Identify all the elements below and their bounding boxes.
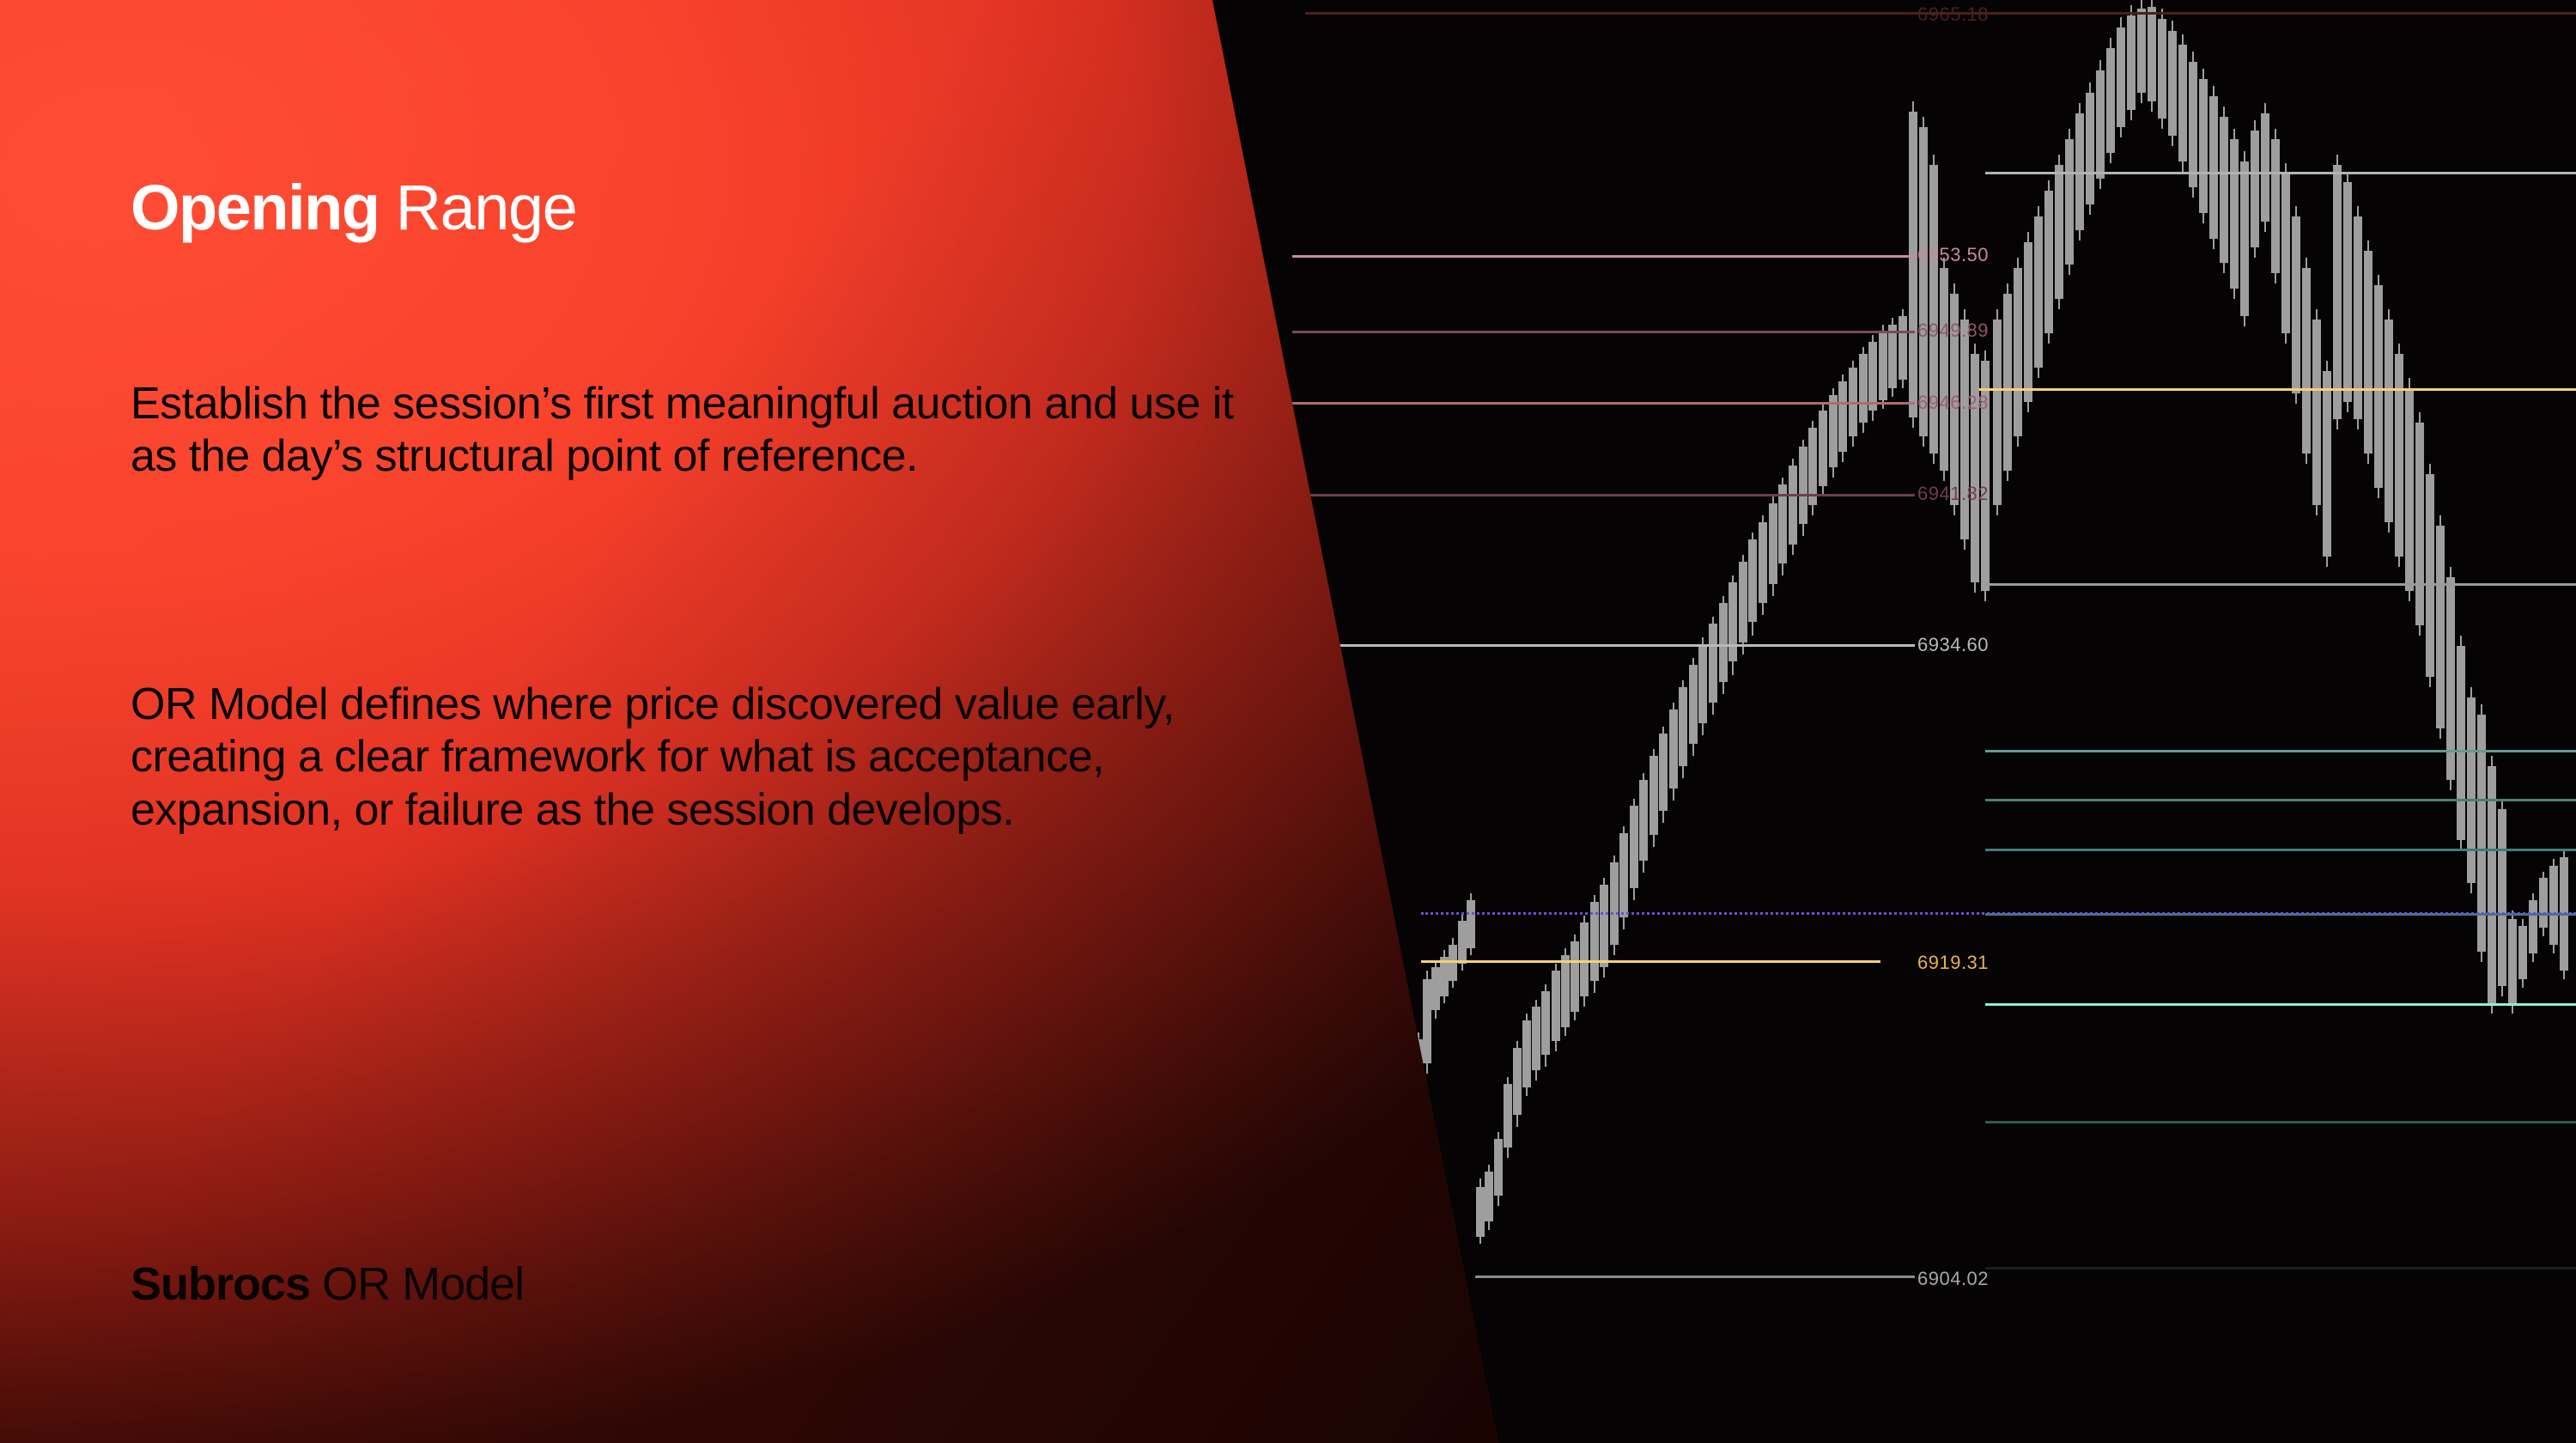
- candle: [2518, 919, 2527, 988]
- price-label: 6953.50: [1917, 244, 1989, 266]
- level-line-low-gray-left: [1475, 1276, 1915, 1278]
- candle: [2251, 120, 2259, 258]
- candle-body: [1719, 603, 1728, 682]
- candle: [2044, 180, 2053, 344]
- candle: [2539, 872, 2548, 936]
- candle: [2457, 636, 2465, 850]
- candle-body: [1494, 1139, 1503, 1196]
- candle-body: [1940, 268, 1948, 471]
- page-title-light: Range: [396, 172, 577, 243]
- candle-body: [1639, 780, 1648, 861]
- candle-body: [2209, 96, 2218, 239]
- level-line-or-low-mint: [1985, 1003, 2576, 1006]
- candle-body: [2137, 9, 2146, 93]
- candle-body: [2539, 878, 2548, 928]
- candle-body: [2251, 131, 2259, 247]
- candle: [1440, 950, 1449, 1003]
- candle-body: [2302, 268, 2311, 454]
- candle-body: [2168, 31, 2177, 136]
- candle-body: [2003, 294, 2012, 471]
- candle-body: [1971, 354, 1979, 582]
- candle-body: [1960, 320, 1969, 539]
- price-label: 6919.31: [1917, 952, 1989, 974]
- candle: [1888, 318, 1897, 397]
- candle: [1960, 309, 1969, 550]
- candle: [1838, 374, 1847, 462]
- candle: [1449, 938, 1457, 988]
- candle: [2405, 378, 2414, 601]
- candle: [2220, 107, 2228, 273]
- candle: [1940, 258, 1948, 481]
- candle-body: [2457, 646, 2465, 840]
- level-line-pivot-rose-1: [1292, 255, 1915, 258]
- candle-body: [1859, 354, 1868, 423]
- candle: [2003, 283, 2012, 481]
- candle: [1868, 335, 1877, 421]
- page-title: Opening Range: [131, 176, 576, 240]
- candle: [1639, 773, 1648, 873]
- candle: [1698, 637, 1707, 735]
- candle-body: [1909, 112, 1917, 417]
- candle: [1476, 1178, 1485, 1244]
- candle-body: [1485, 1172, 1493, 1221]
- candle-body: [2220, 117, 2228, 263]
- candle: [2261, 103, 2269, 232]
- candle-body: [2405, 388, 2414, 591]
- candle: [1993, 309, 2002, 515]
- candle: [1971, 344, 1979, 593]
- candle-body: [2467, 697, 2476, 883]
- candle: [1689, 658, 1698, 756]
- candle-body: [2333, 165, 2342, 419]
- candle: [2343, 172, 2352, 412]
- candle-body: [1698, 644, 1707, 723]
- candle-body: [1829, 395, 1838, 467]
- candle-body: [1789, 466, 1797, 545]
- candle: [2488, 756, 2496, 1014]
- candle-body: [2385, 320, 2393, 522]
- candle: [2364, 240, 2372, 464]
- candle-body: [2281, 174, 2290, 333]
- candle-body: [1709, 624, 1717, 703]
- candle: [1659, 727, 1668, 823]
- candle: [2158, 9, 2166, 129]
- level-line-or-high-yellow: [1979, 388, 2576, 391]
- level-line-vwap-band-3: [1985, 849, 2576, 851]
- candle-body: [1449, 945, 1457, 981]
- candle: [2508, 910, 2517, 1014]
- candle-body: [2106, 48, 2115, 153]
- candle: [1571, 935, 1579, 1020]
- candle: [1423, 971, 1431, 1074]
- candle: [2230, 129, 2239, 299]
- candle-body: [1504, 1084, 1512, 1148]
- candle: [2529, 893, 2537, 962]
- candle-body: [2436, 526, 2445, 728]
- candle: [1679, 680, 1687, 778]
- price-label: 6946.28: [1917, 392, 1989, 414]
- candle-body: [1669, 709, 1678, 788]
- candle: [2467, 687, 2476, 893]
- candle: [2374, 275, 2383, 498]
- candle: [2323, 361, 2331, 567]
- candle: [2395, 344, 2403, 567]
- price-label: 6949.89: [1917, 320, 1989, 342]
- candle-body: [2199, 79, 2208, 213]
- level-line-vwap-band-1: [1985, 750, 2576, 752]
- body-paragraph-1: Establish the session’s first meaningful…: [131, 378, 1238, 484]
- candle-body: [1610, 862, 1619, 945]
- candle-body: [2148, 7, 2156, 101]
- level-line-pivot-rose-4: [1292, 494, 1915, 496]
- candle-body: [1769, 503, 1777, 584]
- candle: [1739, 555, 1747, 655]
- candle: [1899, 309, 1907, 388]
- candle-body: [1600, 885, 1608, 967]
- slide-canvas: 6965.186953.506949.896946.286941.826934.…: [0, 0, 2576, 1443]
- level-line-structure-gray-3: [1985, 583, 2576, 586]
- candle-body: [2189, 62, 2197, 187]
- candle-body: [2230, 139, 2239, 289]
- candle: [1799, 440, 1807, 536]
- candle: [2178, 34, 2187, 172]
- candle: [2024, 232, 2032, 412]
- candle-body: [2508, 919, 2517, 1003]
- candle-body: [1458, 921, 1467, 964]
- candle: [2240, 151, 2249, 326]
- candle-body: [1580, 922, 1589, 996]
- candle-body: [2518, 926, 2527, 979]
- candle: [2065, 129, 2074, 275]
- candle: [1630, 799, 1638, 900]
- candle: [2271, 129, 2280, 283]
- level-line-structure-gray-1: [1985, 172, 2576, 174]
- level-line-lower-teal-dim: [1985, 1121, 2576, 1123]
- level-line-low-gray-right: [1985, 1267, 2576, 1269]
- brand-product: OR Model: [322, 1258, 524, 1310]
- page-title-bold: Opening: [131, 172, 380, 243]
- candle: [1649, 749, 1658, 847]
- price-label: 6934.60: [1917, 634, 1989, 656]
- candle: [1859, 347, 1868, 433]
- candle-body: [2343, 182, 2352, 402]
- candle-body: [1679, 687, 1687, 766]
- candle-body: [2529, 900, 2537, 953]
- price-label: 6965.18: [1917, 3, 1989, 26]
- candle: [2426, 464, 2434, 687]
- candle: [1709, 617, 1717, 715]
- candle-body: [2292, 216, 2300, 393]
- candle: [2292, 206, 2300, 404]
- candle-body: [2086, 93, 2094, 204]
- candle-body: [2323, 371, 2331, 557]
- candle-body: [1739, 562, 1747, 642]
- candle-body: [2055, 165, 2063, 299]
- candle: [2385, 309, 2393, 533]
- brand-name: Subrocs: [131, 1258, 310, 1310]
- level-line-session-dotted: [1421, 912, 2576, 915]
- candle: [1532, 1000, 1540, 1081]
- candle-body: [2240, 161, 2249, 316]
- candle: [1728, 575, 1737, 675]
- level-line-or-low-yellow: [1421, 960, 1880, 963]
- candle-body: [2158, 19, 2166, 119]
- candle: [2302, 258, 2311, 464]
- candle: [2199, 69, 2208, 223]
- brand-footer: Subrocs OR Model: [131, 1261, 524, 1307]
- level-line-pivot-rose-2: [1292, 331, 1915, 333]
- candle-body: [1619, 833, 1628, 917]
- candle-body: [2549, 866, 2558, 945]
- candle: [2549, 859, 2558, 953]
- candle-body: [2024, 242, 2032, 402]
- candle: [1759, 515, 1767, 615]
- candle: [2312, 309, 2321, 515]
- candle-body: [2395, 354, 2403, 557]
- candle: [1819, 404, 1827, 496]
- candle-body: [1467, 900, 1475, 948]
- candle: [1513, 1041, 1522, 1127]
- candle: [1610, 855, 1619, 955]
- candle-body: [1630, 806, 1638, 888]
- candle: [1748, 533, 1757, 636]
- candle-body: [2065, 139, 2074, 265]
- candle-body: [2374, 285, 2383, 488]
- candle-body: [1561, 955, 1570, 1027]
- candle-body: [1513, 1048, 1522, 1115]
- candle-body: [2096, 70, 2105, 179]
- candle-body: [1819, 411, 1827, 486]
- candle-body: [1689, 665, 1698, 744]
- candle: [1789, 459, 1797, 555]
- candle: [2477, 704, 2486, 962]
- candle-body: [1541, 991, 1550, 1055]
- candle-body: [1522, 1020, 1531, 1087]
- candle: [2281, 163, 2290, 344]
- candle-body: [2312, 320, 2321, 505]
- price-label: 6941.82: [1917, 483, 1989, 505]
- candle: [2106, 38, 2115, 163]
- candle: [1494, 1132, 1503, 1206]
- candle-body: [1649, 756, 1658, 835]
- price-label: 6904.02: [1917, 1268, 1989, 1290]
- candle-body: [1532, 1007, 1540, 1070]
- candle: [2096, 60, 2105, 189]
- candle-body: [1993, 320, 2002, 505]
- candle: [2354, 206, 2362, 429]
- candle-body: [2034, 216, 2043, 368]
- candle: [2209, 86, 2218, 249]
- level-line-structure-gray-2: [1340, 644, 1915, 647]
- candle-body: [1799, 447, 1807, 524]
- candle: [1485, 1165, 1493, 1230]
- candle-body: [2488, 766, 2496, 1003]
- candle: [1590, 895, 1599, 993]
- candle: [1879, 325, 1887, 409]
- candle-body: [1888, 325, 1897, 388]
- level-line-vwap-band-2: [1985, 799, 2576, 801]
- candle-body: [1919, 127, 1928, 436]
- candle: [2086, 82, 2094, 215]
- candle-body: [2127, 15, 2136, 110]
- candle: [2446, 567, 2455, 790]
- candle-body: [1659, 734, 1668, 811]
- candle: [2034, 206, 2043, 378]
- candle-body: [2117, 27, 2125, 127]
- candle: [1552, 964, 1560, 1051]
- candle: [2014, 258, 2022, 447]
- candle: [2415, 412, 2424, 636]
- candle: [1669, 703, 1678, 801]
- candle: [2148, 0, 2156, 112]
- candle-body: [2498, 809, 2506, 986]
- candle: [2137, 0, 2146, 103]
- candle: [2498, 799, 2506, 996]
- candle-body: [1879, 332, 1887, 400]
- candle-body: [2364, 251, 2372, 454]
- candle: [1504, 1077, 1512, 1158]
- candle-body: [1571, 941, 1579, 1012]
- level-line-pivot-rose-3: [1292, 402, 1915, 405]
- candle: [1431, 960, 1440, 1019]
- candle: [1522, 1014, 1531, 1096]
- candle-body: [1476, 1187, 1485, 1237]
- candle-body: [1748, 539, 1757, 622]
- candle: [1808, 421, 1817, 515]
- candle-body: [2014, 268, 2022, 436]
- candle-body: [1899, 316, 1907, 380]
- candle: [1467, 893, 1475, 955]
- candle: [2127, 5, 2136, 120]
- candle: [1778, 478, 1787, 575]
- candle: [1909, 101, 1917, 428]
- candle: [1769, 496, 1777, 596]
- candle-body: [2426, 474, 2434, 677]
- candle-body: [2178, 45, 2187, 161]
- candle-body: [1728, 582, 1737, 661]
- candle: [2117, 17, 2125, 137]
- copy-block: Opening Range Establish the session’s fi…: [131, 0, 1264, 1443]
- candle-body: [1431, 967, 1440, 1010]
- candle-body: [2415, 423, 2424, 625]
- candle-body: [2261, 113, 2269, 222]
- candle-body: [1423, 979, 1431, 1063]
- candle: [2189, 52, 2197, 198]
- candle: [2055, 155, 2063, 309]
- candle-body: [2271, 139, 2280, 273]
- body-paragraph-2: OR Model defines where price discovered …: [131, 679, 1238, 837]
- candle-body: [1838, 381, 1847, 452]
- candle: [2168, 21, 2177, 146]
- candle-body: [2044, 191, 2053, 333]
- candle-body: [1759, 522, 1767, 603]
- candle-body: [1868, 342, 1877, 411]
- candle: [2436, 515, 2445, 739]
- candle-body: [1552, 971, 1560, 1041]
- candle: [1929, 155, 1938, 464]
- candle: [1541, 984, 1550, 1067]
